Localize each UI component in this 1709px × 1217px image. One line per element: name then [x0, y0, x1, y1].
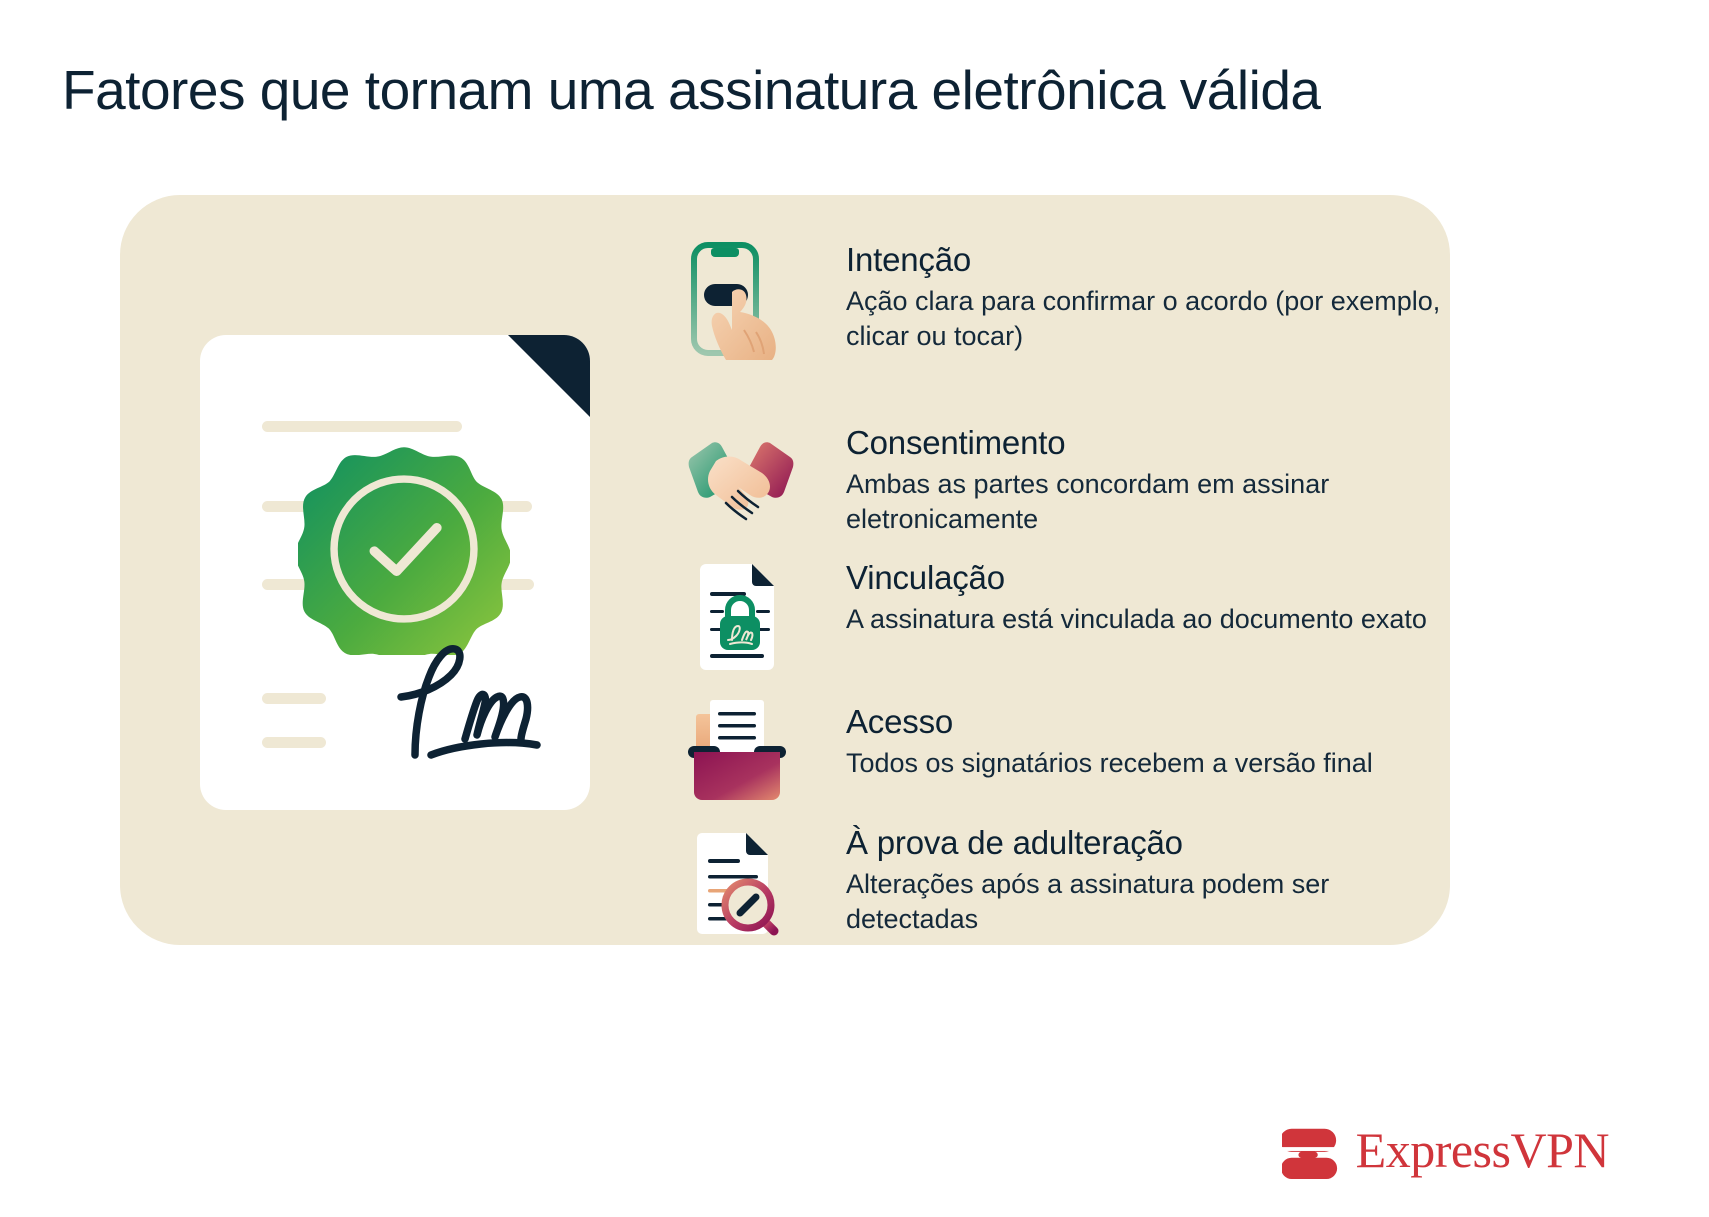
expressvpn-wordmark: ExpressVPN: [1356, 1125, 1609, 1175]
handshake-icon: [686, 421, 796, 541]
feature-description: Ambas as partes concordam em assinar ele…: [846, 467, 1446, 537]
feature-description: A assinatura está vinculada ao documento…: [846, 602, 1446, 637]
doc-text-line: [262, 421, 462, 432]
feature-title: À prova de adulteração: [846, 823, 1446, 863]
document-magnifier-icon: [686, 825, 796, 945]
handwritten-signature-icon: [385, 635, 555, 765]
feature-text: Acesso Todos os signatários recebem a ve…: [846, 702, 1446, 781]
feature-description: Todos os signatários recebem a versão fi…: [846, 746, 1446, 781]
signed-document-card: [200, 335, 590, 810]
feature-text: À prova de adulteração Alterações após a…: [846, 823, 1446, 937]
document-lock-icon: [686, 558, 796, 678]
feature-title: Consentimento: [846, 423, 1446, 463]
feature-description: Ação clara para confirmar o acordo (por …: [846, 284, 1446, 354]
folder-document-icon: [686, 690, 796, 810]
infographic-page: Fatores que tornam uma assinatura eletrô…: [0, 0, 1709, 1217]
doc-text-line: [262, 693, 326, 704]
feature-title: Acesso: [846, 702, 1446, 742]
feature-title: Vinculação: [846, 558, 1446, 598]
verified-seal-icon: [298, 443, 510, 655]
page-fold-icon: [508, 335, 590, 417]
phone-tap-hand-icon: [686, 240, 796, 360]
feature-text: Consentimento Ambas as partes concordam …: [846, 423, 1446, 537]
feature-title: Intenção: [846, 240, 1446, 280]
expressvpn-logo: ExpressVPN: [1282, 1121, 1609, 1179]
feature-description: Alterações após a assinatura podem ser d…: [846, 867, 1446, 937]
doc-text-line: [262, 737, 326, 748]
feature-text: Vinculação A assinatura está vinculada a…: [846, 558, 1446, 637]
expressvpn-e-logo-icon: [1282, 1121, 1340, 1179]
page-title: Fatores que tornam uma assinatura eletrô…: [62, 57, 1622, 123]
feature-text: Intenção Ação clara para confirmar o aco…: [846, 240, 1446, 354]
